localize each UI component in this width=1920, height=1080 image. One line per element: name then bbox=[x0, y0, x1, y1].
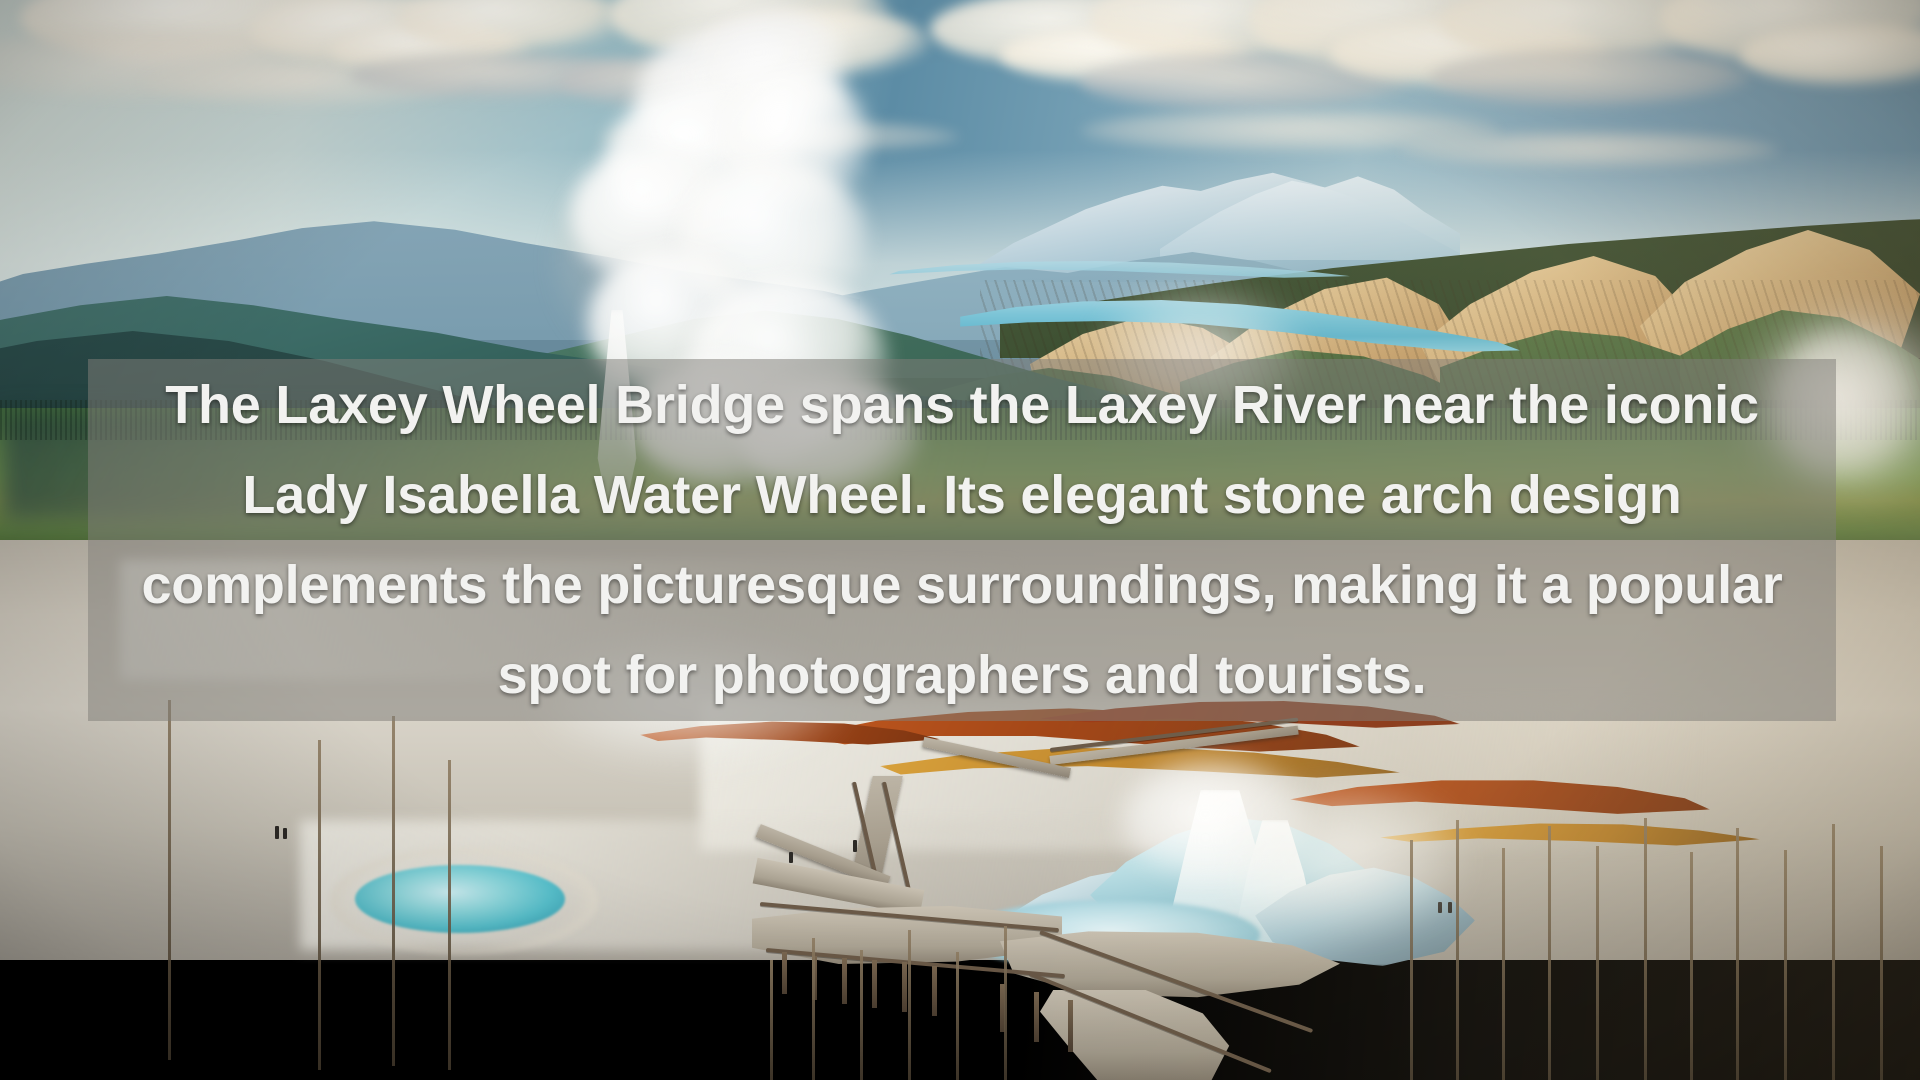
conifer-tree bbox=[196, 722, 266, 922]
dead-tree-snag bbox=[168, 700, 171, 1060]
conifer-tree bbox=[1136, 712, 1184, 832]
boardwalk-piling bbox=[902, 962, 907, 1012]
conifer-tree bbox=[1830, 890, 1920, 1080]
boardwalk-piling bbox=[932, 966, 937, 1016]
dead-tree-snag bbox=[1410, 840, 1413, 1080]
dead-tree-snag bbox=[392, 716, 395, 1066]
dead-tree-snag bbox=[812, 938, 815, 1080]
dead-tree-snag bbox=[1832, 824, 1835, 1080]
dead-tree-snag bbox=[448, 760, 451, 1070]
conifer-tree bbox=[700, 960, 796, 1080]
dead-tree-snag bbox=[860, 950, 863, 1080]
conifer-tree bbox=[1246, 726, 1302, 896]
conifer-tree bbox=[1460, 886, 1560, 1080]
conifer-tree bbox=[1646, 890, 1750, 1080]
caption-text: The Laxey Wheel Bridge spans the Laxey R… bbox=[88, 360, 1836, 720]
conifer-tree bbox=[600, 930, 690, 1080]
conifer-tree bbox=[646, 746, 706, 936]
dead-tree-snag bbox=[1784, 850, 1787, 1080]
dead-tree-snag bbox=[318, 740, 321, 1070]
dead-tree-snag bbox=[1644, 818, 1647, 1080]
screenshot-canvas: The Laxey Wheel Bridge spans the Laxey R… bbox=[0, 0, 1920, 1080]
dead-tree-snag bbox=[1736, 828, 1739, 1080]
dead-tree-snag bbox=[1596, 846, 1599, 1080]
dead-tree-snag bbox=[956, 952, 959, 1080]
dead-tree-snag bbox=[1502, 848, 1505, 1080]
dead-tree-snag bbox=[1548, 826, 1551, 1080]
visitor-figure bbox=[853, 840, 857, 852]
boardwalk-piling bbox=[1034, 992, 1039, 1042]
dead-tree-snag bbox=[1004, 926, 1007, 1080]
cloud bbox=[1430, 50, 1750, 106]
conifer-tree bbox=[0, 640, 70, 860]
boardwalk-piling bbox=[1068, 1000, 1073, 1052]
visitor-figure bbox=[789, 852, 793, 863]
conifer-tree bbox=[1090, 1000, 1186, 1080]
dead-tree-snag bbox=[908, 930, 911, 1080]
conifer-tree bbox=[1180, 950, 1270, 1080]
dead-tree-snag bbox=[770, 960, 773, 1080]
dead-tree-snag bbox=[1880, 846, 1883, 1080]
dead-tree-snag bbox=[1456, 820, 1459, 1080]
caption-overlay: The Laxey Wheel Bridge spans the Laxey R… bbox=[88, 359, 1836, 721]
conifer-tree bbox=[1550, 920, 1656, 1080]
conifer-tree bbox=[810, 942, 890, 1080]
dead-tree-snag bbox=[1690, 852, 1693, 1080]
